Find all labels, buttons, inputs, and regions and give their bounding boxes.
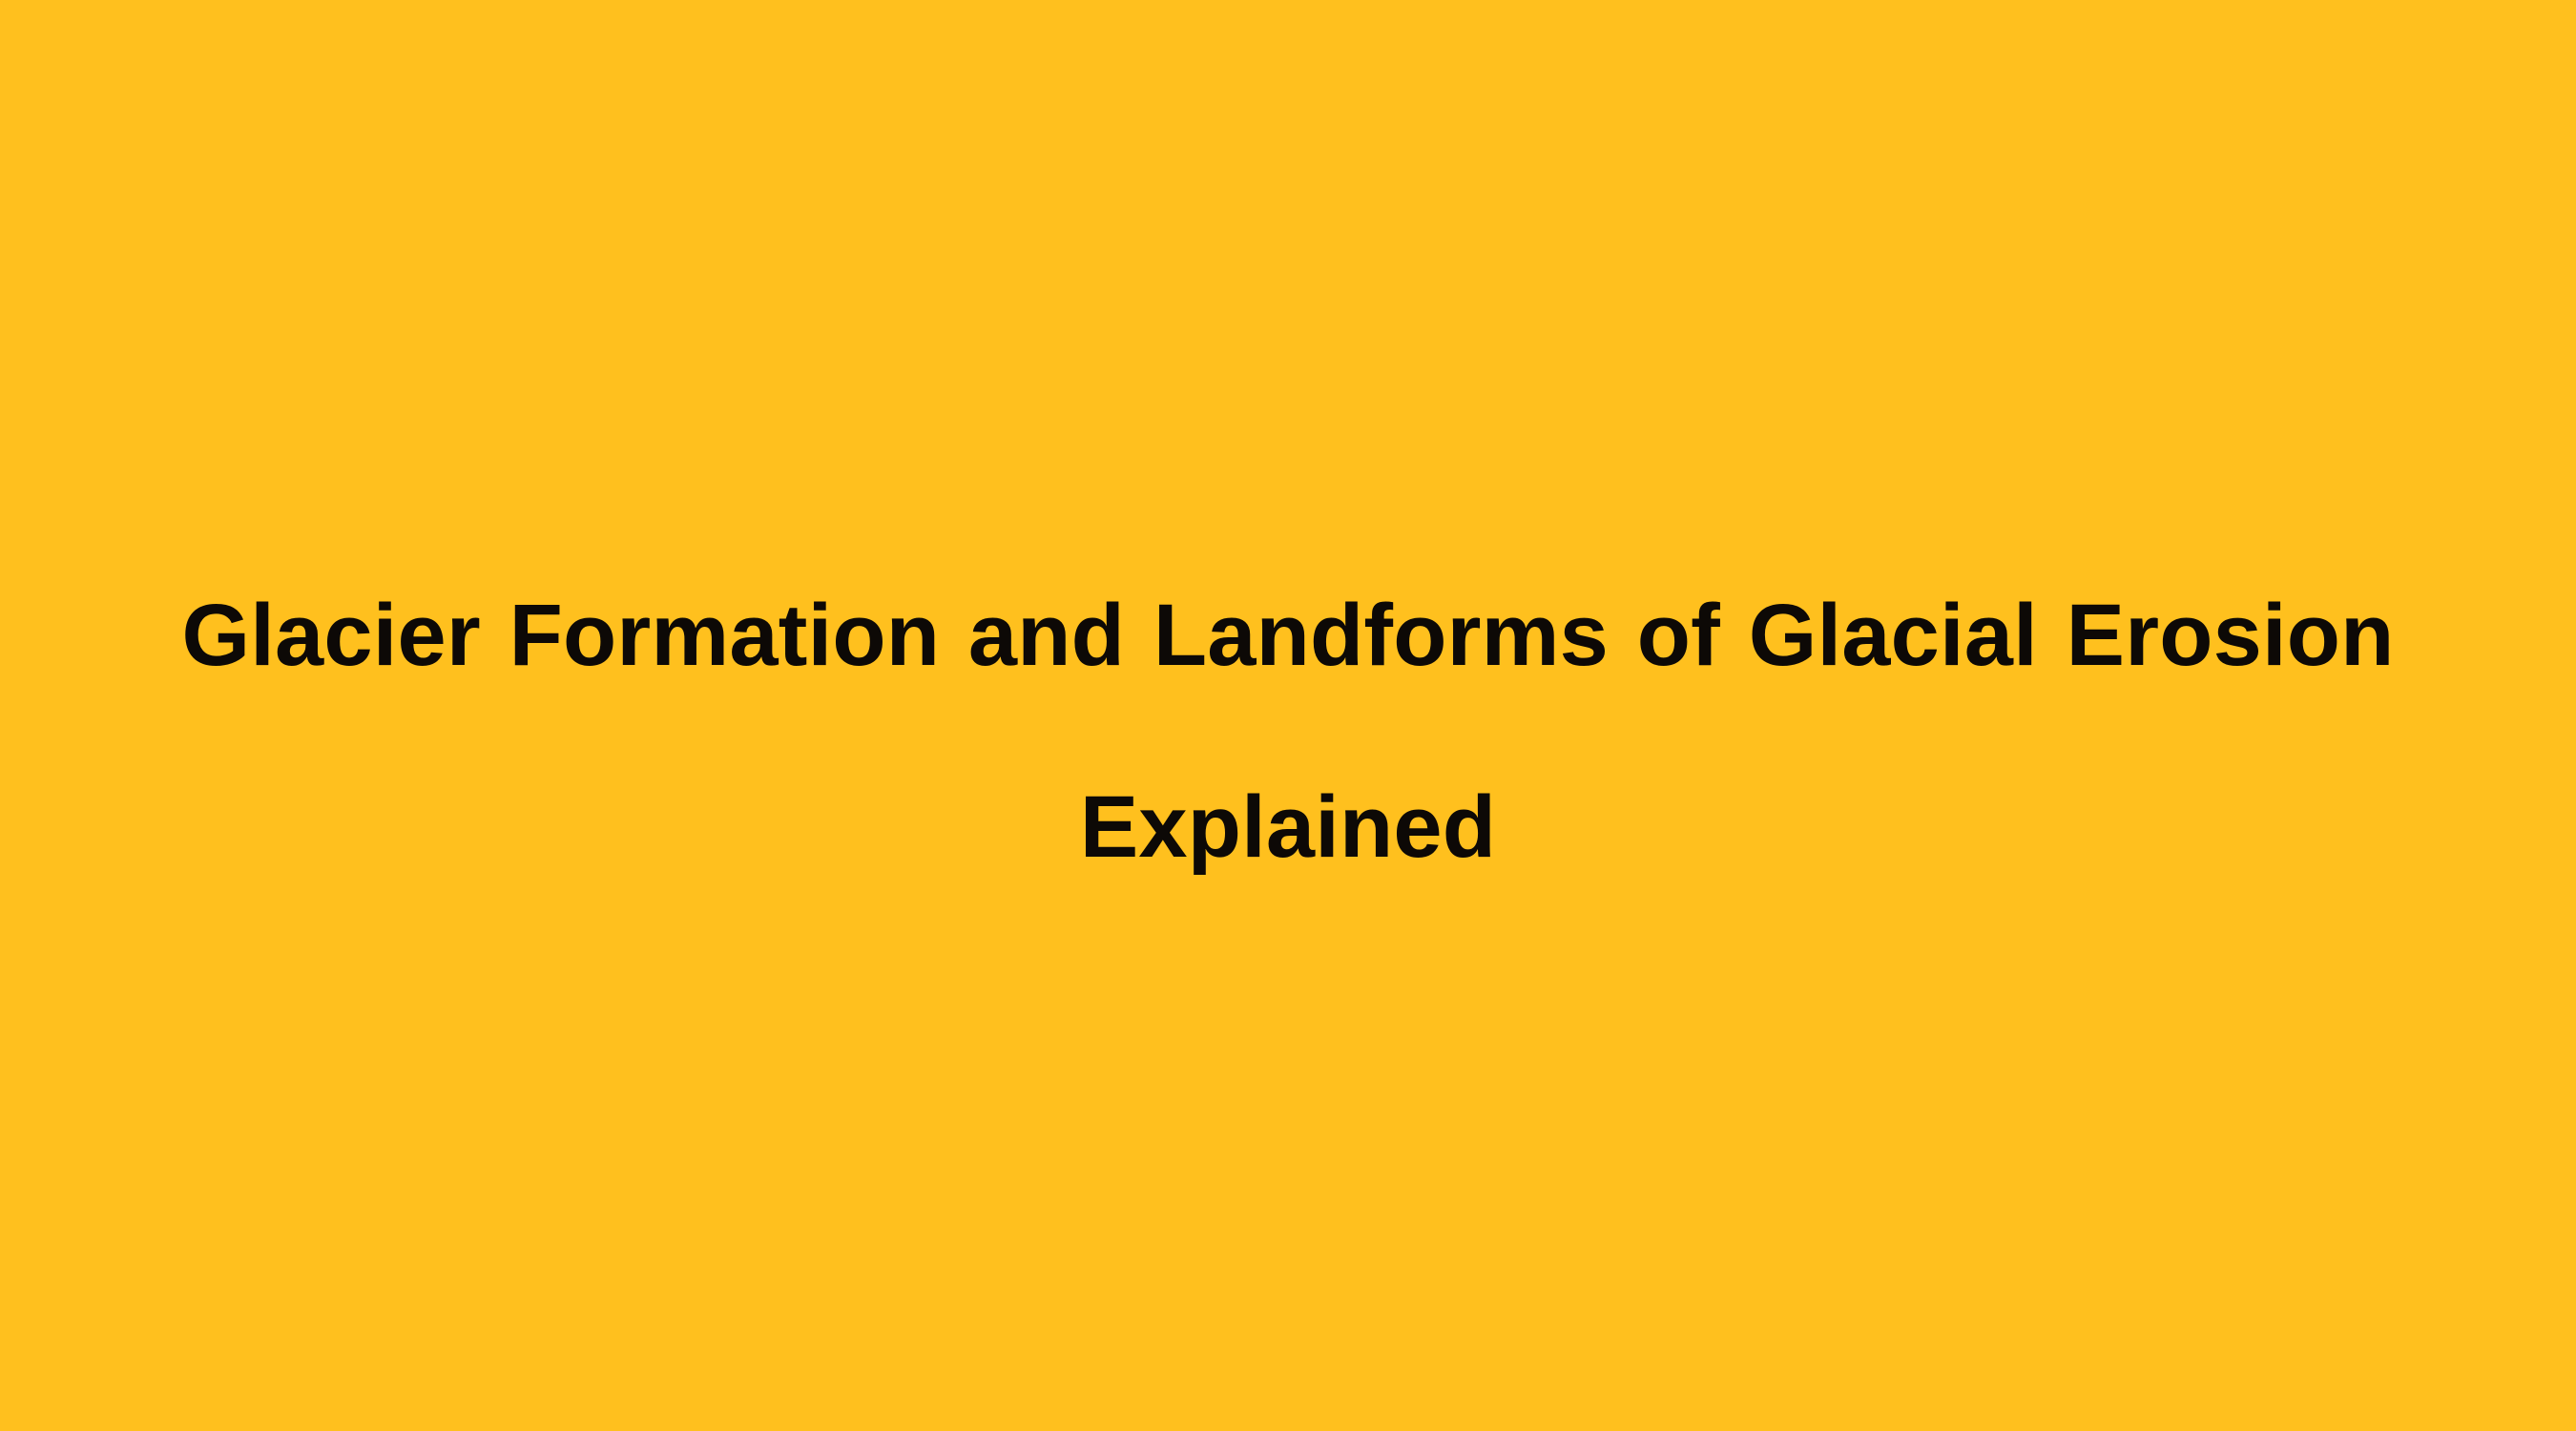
page-title-line-2: Explained (86, 732, 2490, 923)
title-block: Glacier Formation and Landforms of Glaci… (0, 540, 2576, 923)
title-slide-canvas: Glacier Formation and Landforms of Glaci… (0, 0, 2576, 1431)
page-title: Glacier Formation and Landforms of Glaci… (86, 540, 2490, 923)
page-title-line-1: Glacier Formation and Landforms of Glaci… (86, 540, 2490, 732)
